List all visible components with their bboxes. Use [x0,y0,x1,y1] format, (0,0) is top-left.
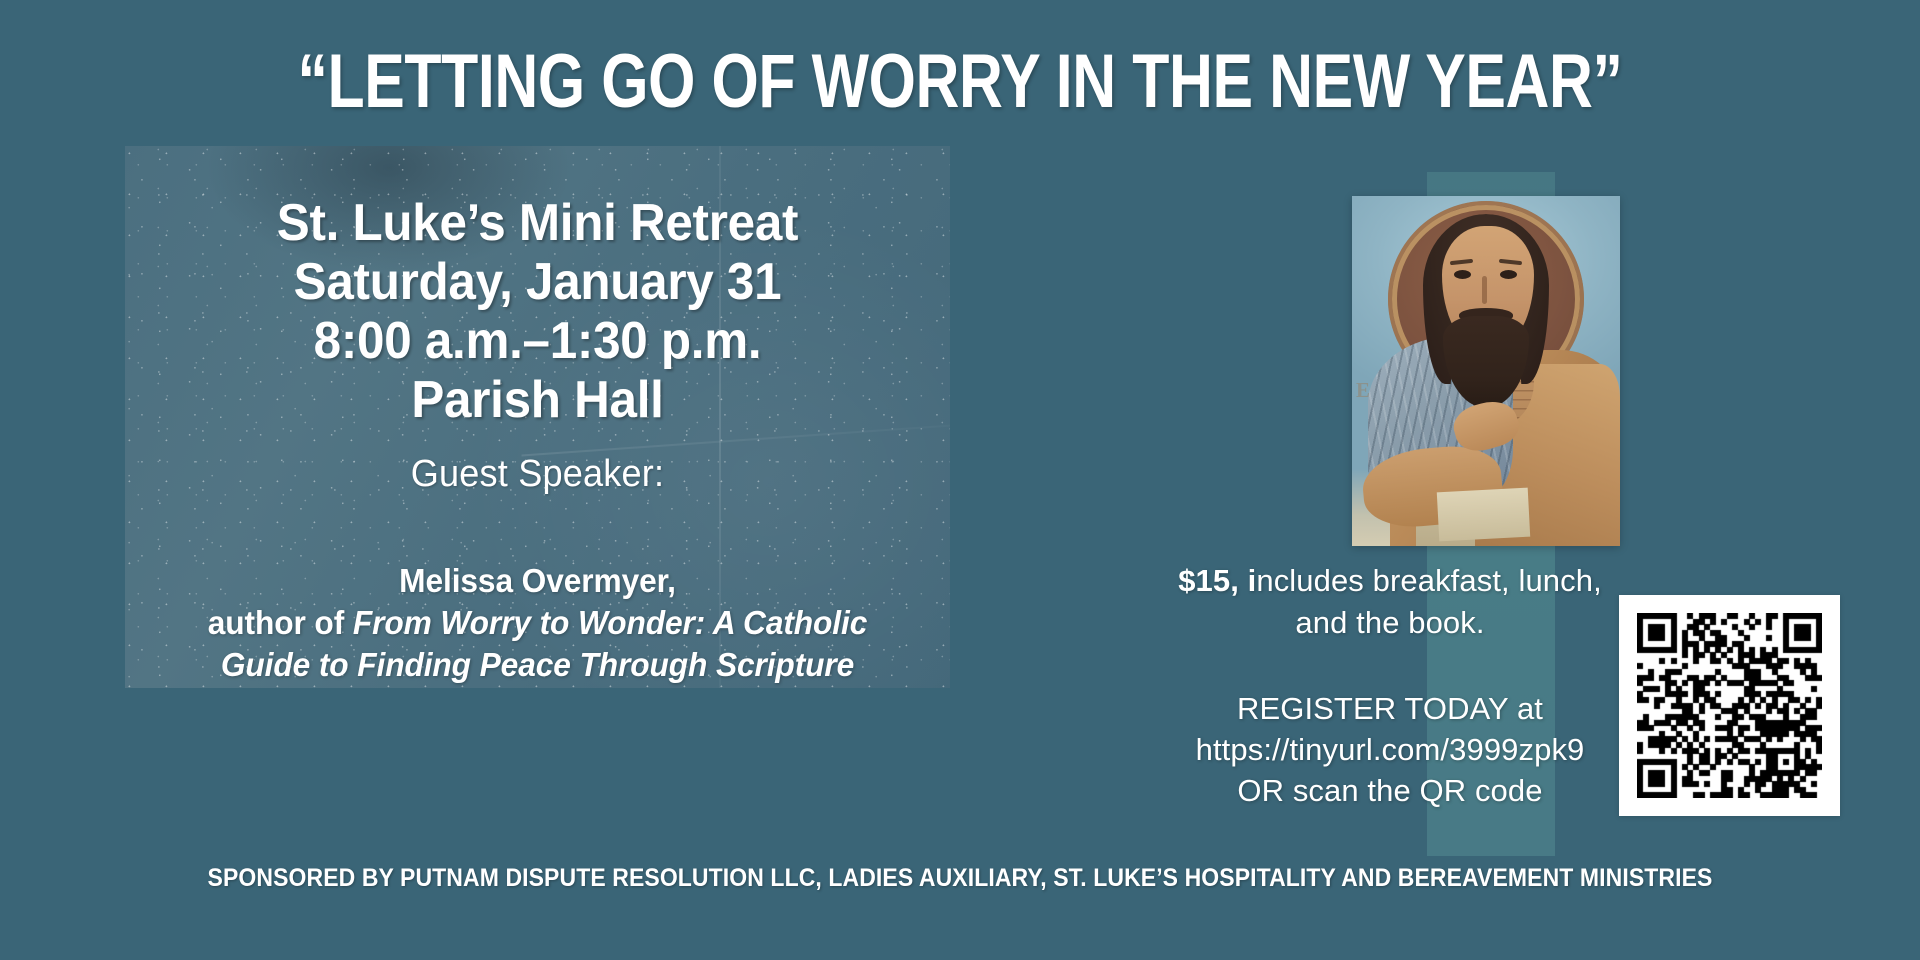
book-title-part1: From Worry to Wonder: A Catholic [353,604,867,641]
register-url[interactable]: https://tinyurl.com/3999zpk9 [1140,729,1640,770]
scroll [1437,488,1531,542]
event-details-column: St. Luke’s Mini Retreat Saturday, Januar… [125,146,950,688]
scan-qr-hint: OR scan the QR code [1140,770,1640,811]
register-today-label: REGISTER TODAY at [1140,688,1640,729]
price-line2: and the book. [1140,602,1640,644]
price-amount: $15, i [1178,563,1256,598]
event-line-location: Parish Hall [146,371,930,430]
event-line-time: 8:00 a.m.–1:30 p.m. [146,312,930,371]
speaker-credit-block: Melissa Overmyer, author of From Worry t… [142,560,934,686]
nose [1482,276,1487,304]
event-lines-block: St. Luke’s Mini Retreat Saturday, Januar… [125,146,950,430]
price-block: $15, includes breakfast, lunch, and the … [1140,560,1640,644]
sponsor-line: SPONSORED BY PUTNAM DISPUTE RESOLUTION L… [77,864,1843,893]
author-of-prefix: author of [208,604,353,641]
eye-right [1500,270,1517,279]
flyer-canvas: “LETTING GO OF WORRY IN THE NEW YEAR” St… [0,0,1920,960]
event-line-date: Saturday, January 31 [146,253,930,312]
guest-speaker-label: Guest Speaker: [146,452,930,496]
register-block: REGISTER TODAY at https://tinyurl.com/39… [1140,688,1640,811]
speaker-name: Melissa Overmyer, [142,560,934,602]
qr-code-icon[interactable] [1637,613,1822,798]
saint-john-baptist-icon-image: ΕΩΙΟΑ ΗΚΩ [1352,196,1620,546]
speaker-book-credit-line1: author of From Worry to Wonder: A Cathol… [142,602,934,644]
qr-code-card[interactable] [1619,595,1840,816]
book-title-part2: Guide to Finding Peace Through Scripture [142,644,934,686]
page-title: “LETTING GO OF WORRY IN THE NEW YEAR” [192,38,1728,125]
registration-column: $15, includes breakfast, lunch, and the … [1140,560,1640,811]
price-includes: ncludes breakfast, lunch, [1256,563,1601,598]
event-line-retreat: St. Luke’s Mini Retreat [146,194,930,253]
eye-left [1454,270,1471,279]
